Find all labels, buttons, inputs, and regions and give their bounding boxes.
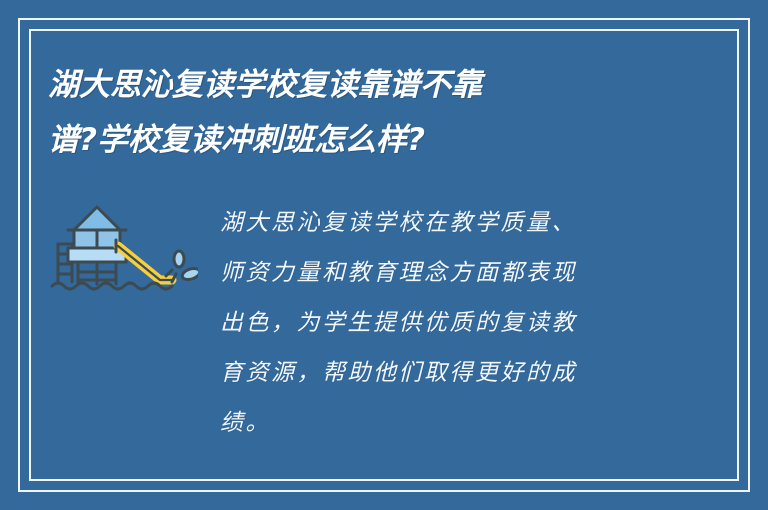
tower-legs <box>78 262 116 284</box>
body-line-1: 湖大思沁复读学校在教学质量、 <box>220 198 577 248</box>
content-area: 湖大思沁复读学校在教学质量、 师资力量和教育理念方面都表现 出色，为学生提供优质… <box>48 196 720 448</box>
body-paragraph: 湖大思沁复读学校在教学质量、 师资力量和教育理念方面都表现 出色，为学生提供优质… <box>220 196 577 448</box>
page-title: 湖大思沁复读学校复读靠谱不靠 谱?学校复读冲刺班怎么样? <box>48 58 648 168</box>
playground-water-slide-icon <box>48 196 198 302</box>
water-line <box>52 283 172 289</box>
title-line-1: 湖大思沁复读学校复读靠谱不靠 <box>48 58 648 113</box>
title-line-2: 谱?学校复读冲刺班怎么样? <box>48 113 648 168</box>
body-line-2: 师资力量和教育理念方面都表现 <box>220 248 577 298</box>
tower-roof <box>68 207 126 230</box>
body-line-5: 绩。 <box>220 398 577 448</box>
poster-card: 湖大思沁复读学校复读靠谱不靠 谱?学校复读冲刺班怎么样? <box>0 0 768 510</box>
body-line-4: 育资源，帮助他们取得更好的成 <box>220 348 577 398</box>
playground-illustration-svg <box>48 202 198 302</box>
body-line-3: 出色，为学生提供优质的复读教 <box>220 298 577 348</box>
